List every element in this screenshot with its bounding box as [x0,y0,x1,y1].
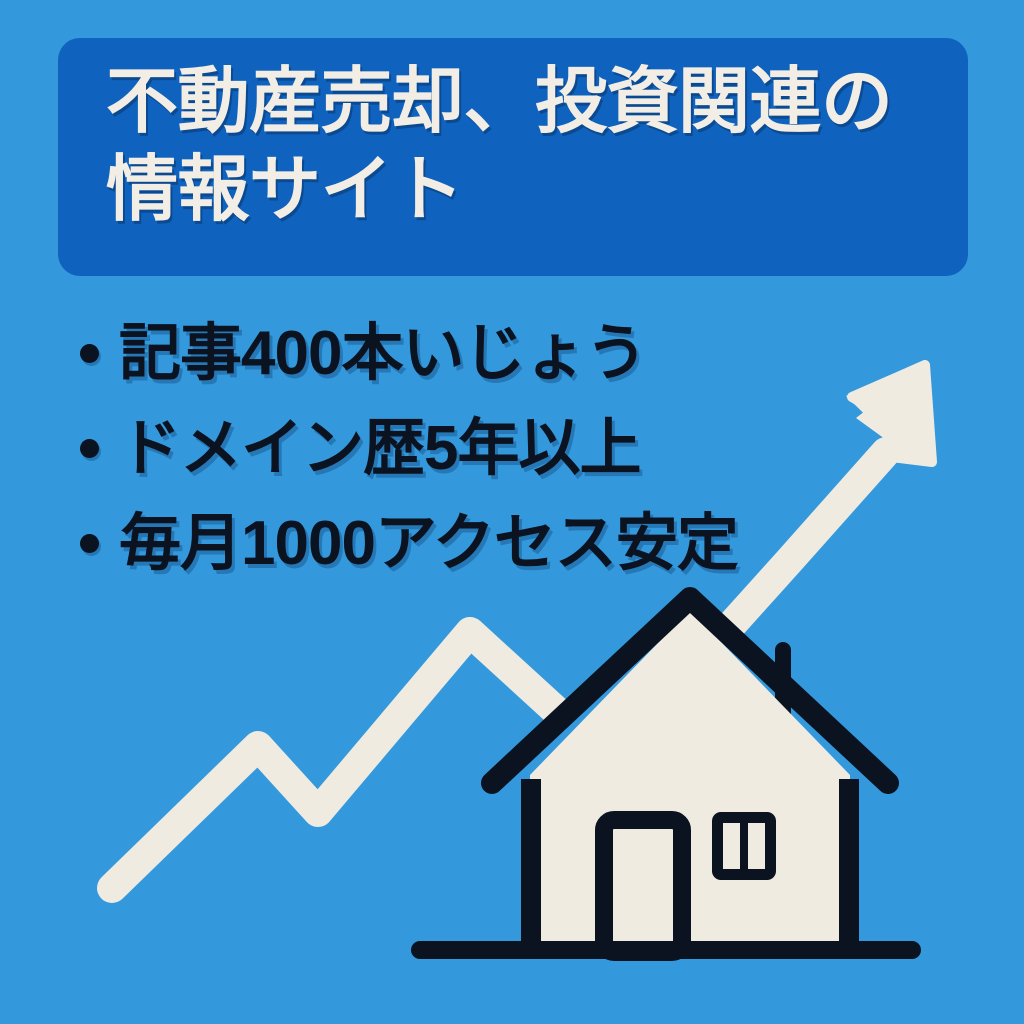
banner-title-line-1: 不動産売却、投資関連の [106,64,968,140]
house-window-pane-right [748,823,765,869]
feature-label-3: 毎月1000アクセス安定 [119,513,738,575]
feature-label-1: 記事400本いじょう [119,323,646,385]
bullet-dot-icon [80,344,99,363]
banner-title-line-2: 情報サイト [106,152,968,228]
poster-canvas: 不動産売却、投資関連の 情報サイト 記事400本いじょう ドメイン歴5年以上 毎… [0,0,1024,1024]
feature-label-2: ドメイン歴5年以上 [119,418,640,480]
bullet-dot-icon [80,439,99,458]
list-item: 記事400本いじょう [80,306,940,401]
header-banner: 不動産売却、投資関連の 情報サイト [58,38,968,276]
list-item: 毎月1000アクセス安定 [80,496,940,591]
feature-list: 記事400本いじょう ドメイン歴5年以上 毎月1000アクセス安定 [80,306,940,591]
bullet-dot-icon [80,534,99,553]
house-window-frame [712,812,776,880]
house-window-pane-left [723,823,740,869]
list-item: ドメイン歴5年以上 [80,401,940,496]
